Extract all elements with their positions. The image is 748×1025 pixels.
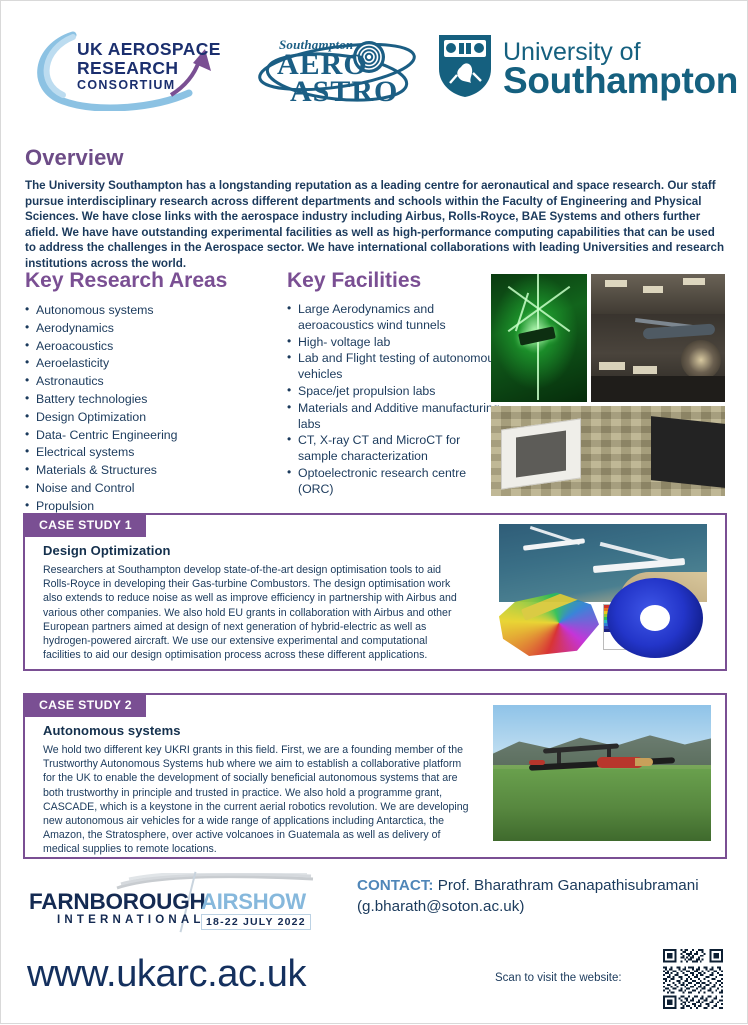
header-logos: UK AEROSPACE RESEARCH CONSORTIUM Southam… [1, 19, 748, 119]
airshow-dates: 18-22 JULY 2022 [201, 914, 311, 930]
case-study-2-title: Autonomous systems [43, 723, 181, 738]
farnborough-airshow-logo: FARNBOROUGH INTERNATIONAL AIRSHOW 18-22 … [29, 873, 349, 933]
case-study-1-body: Researchers at Southampton develop state… [43, 563, 467, 662]
aircraft-cfd-collage-image [495, 524, 711, 660]
uav-silhouette [529, 745, 675, 779]
university-of-southampton-logo: University of Southampton [437, 33, 727, 105]
airshow-label: AIRSHOW [201, 889, 306, 915]
overview-heading: Overview [25, 145, 725, 171]
list-item: Aeroelasticity [25, 355, 277, 371]
list-item: Materials & Structures [25, 462, 277, 478]
list-item: Autonomous systems [25, 302, 277, 318]
key-facilities-list: Large Aerodynamics and aeroacoustics win… [287, 302, 502, 498]
ukarc-line2: RESEARCH [77, 59, 221, 78]
list-item: Lab and Flight testing of autonomous veh… [287, 351, 502, 383]
aeroastro-logo: Southampton AERO ASTRO [257, 33, 417, 109]
key-facilities-heading: Key Facilities [287, 269, 502, 293]
contact-person: Prof. Bharathram Ganapathisubramani [438, 877, 699, 894]
scan-instruction: Scan to visit the website: [495, 972, 622, 984]
list-item: Astronautics [25, 373, 277, 389]
ukarc-line3: CONSORTIUM [77, 78, 221, 93]
university-line2: Southampton [503, 61, 738, 101]
key-research-areas-heading: Key Research Areas [25, 269, 277, 293]
list-item: High- voltage lab [287, 335, 502, 351]
list-item: Materials and Additive manufacturing lab… [287, 401, 502, 433]
laser-piv-wind-tunnel-photo [491, 274, 587, 402]
list-item: Space/jet propulsion labs [287, 384, 502, 400]
overview-section: Overview The University Southampton has … [25, 145, 725, 272]
key-facilities-column: Key Facilities Large Aerodynamics and ae… [287, 269, 502, 499]
farnborough-international: INTERNATIONAL [57, 914, 205, 926]
list-item: Noise and Control [25, 480, 277, 496]
case-study-1-badge: CASE STUDY 1 [23, 513, 146, 537]
contact-block: CONTACT: Prof. Bharathram Ganapathisubra… [357, 875, 747, 917]
list-item: Data- Centric Engineering [25, 427, 277, 443]
ukarc-logo-text: UK AEROSPACE RESEARCH CONSORTIUM [77, 40, 221, 93]
key-research-areas-column: Key Research Areas Autonomous systems Ae… [25, 269, 277, 516]
list-item: Optoelectronic research centre (ORC) [287, 466, 502, 498]
ukarc-logo: UK AEROSPACE RESEARCH CONSORTIUM [29, 31, 229, 111]
list-item: Aeroacoustics [25, 338, 277, 354]
anechoic-chamber-photo [491, 406, 725, 496]
list-item: CT, X-ray CT and MicroCT for sample char… [287, 433, 502, 465]
facility-images [491, 274, 725, 496]
website-url[interactable]: www.ukarc.ac.uk [27, 953, 306, 996]
uav-in-flight-photo [493, 705, 711, 841]
key-research-areas-list: Autonomous systems Aerodynamics Aeroacou… [25, 302, 277, 514]
case-study-2-badge: CASE STUDY 2 [23, 693, 146, 717]
farnborough-name: FARNBOROUGH [29, 889, 206, 915]
areas-and-facilities: Key Research Areas Autonomous systems Ae… [25, 269, 725, 501]
contact-line-1: CONTACT: Prof. Bharathram Ganapathisubra… [357, 875, 747, 896]
contact-label: CONTACT: [357, 877, 433, 894]
contact-email[interactable]: (g.bharath@soton.ac.uk) [357, 896, 747, 917]
list-item: Electrical systems [25, 444, 277, 460]
overview-body: The University Southampton has a longsta… [25, 178, 725, 272]
list-item: Design Optimization [25, 409, 277, 425]
case-study-2: CASE STUDY 2 Autonomous systems We hold … [23, 693, 727, 859]
wind-tunnel-aircraft-model-photo [591, 274, 725, 402]
poster-page: UK AEROSPACE RESEARCH CONSORTIUM Southam… [0, 0, 748, 1024]
footer: FARNBOROUGH INTERNATIONAL AIRSHOW 18-22 … [1, 865, 748, 1025]
list-item: Battery technologies [25, 391, 277, 407]
case-study-2-body: We hold two different key UKRI grants in… [43, 743, 473, 857]
aeroastro-astro: ASTRO [290, 77, 398, 107]
list-item: Propulsion [25, 498, 277, 514]
case-study-1-title: Design Optimization [43, 543, 171, 558]
ukarc-line1: UK AEROSPACE [77, 40, 221, 59]
shield-crest-icon [437, 33, 493, 99]
case-study-1: CASE STUDY 1 Design Optimization Researc… [23, 513, 727, 671]
list-item: Large Aerodynamics and aeroacoustics win… [287, 302, 502, 334]
list-item: Aerodynamics [25, 320, 277, 336]
qr-code[interactable] [661, 947, 725, 1011]
